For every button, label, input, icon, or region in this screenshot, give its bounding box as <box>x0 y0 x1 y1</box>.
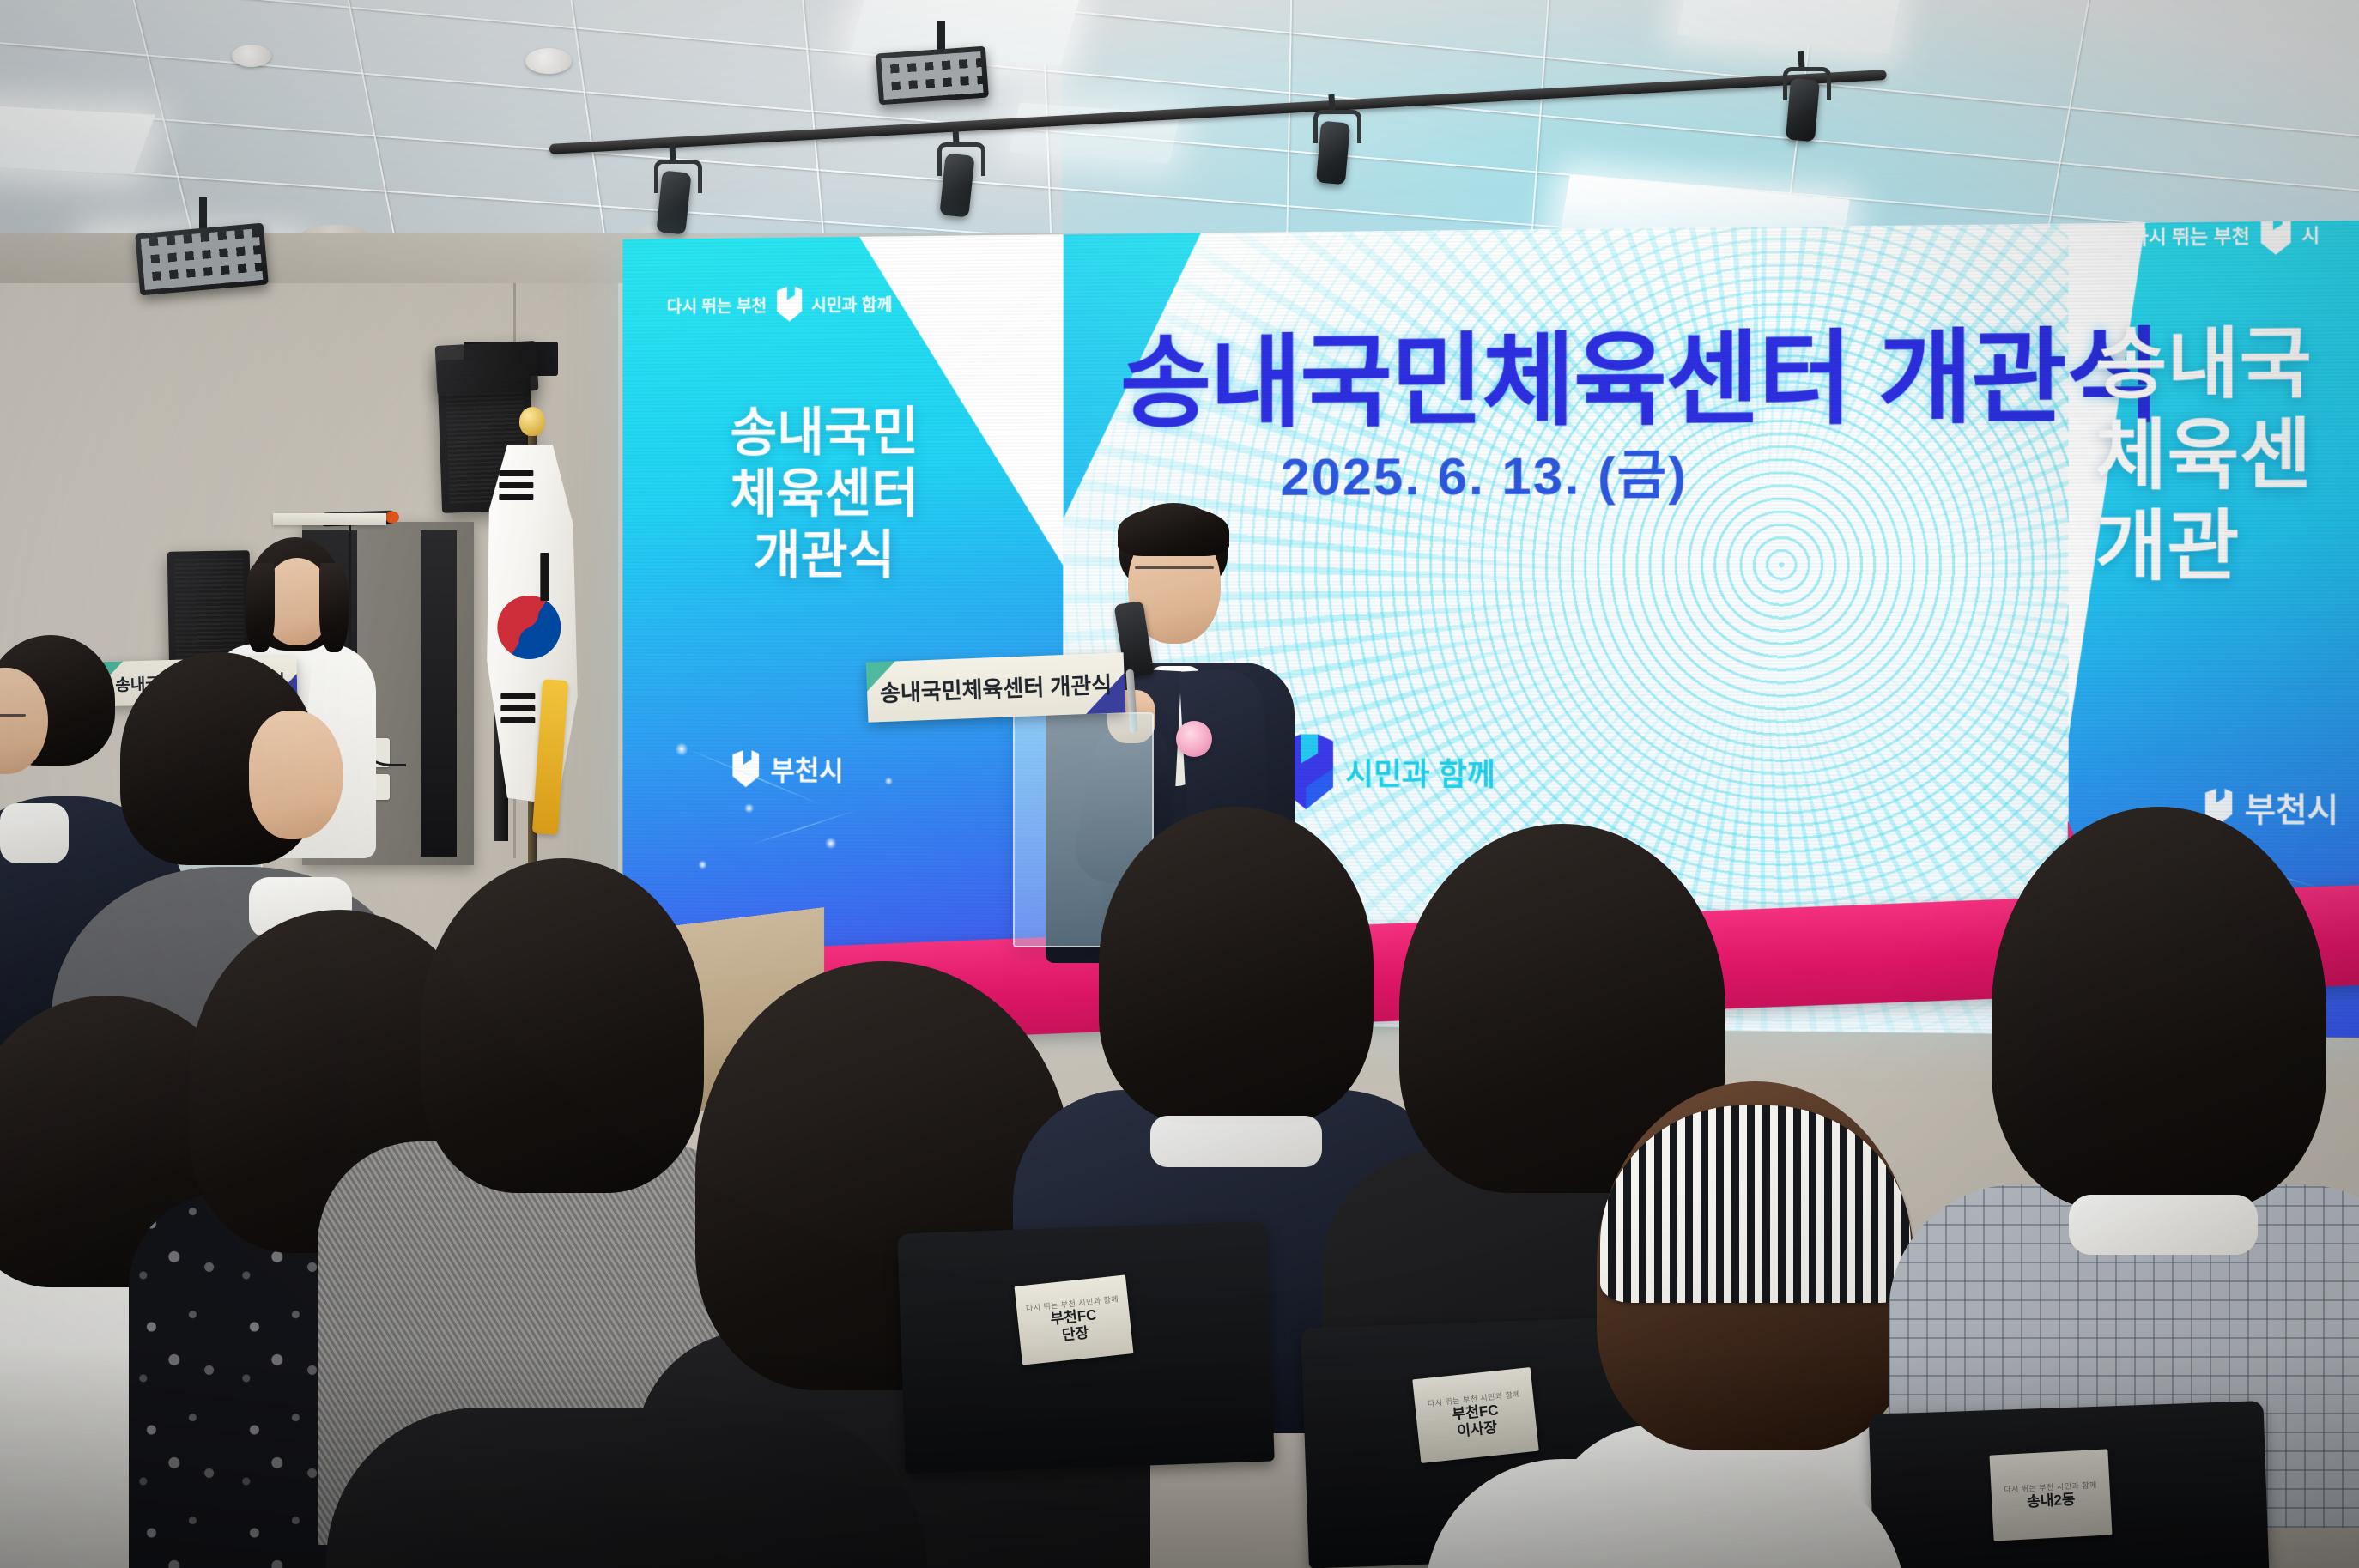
screen-left-brand-lockup: 다시 뛰는 부천 시민과 함께 <box>667 285 892 323</box>
eyeglasses-icon <box>0 714 26 717</box>
audience-hair <box>1992 807 2326 1210</box>
flag-cloth <box>473 445 586 805</box>
audience-top <box>1425 1459 1906 1568</box>
smoke-detector-icon <box>232 45 271 67</box>
screen-right-title: 송내국 체육센 개관 <box>2095 316 2359 591</box>
audience-shirt-collar <box>0 803 69 863</box>
audience-member <box>1957 807 2352 1476</box>
center-podium-sign-text: 송내국민체육센터 개관식 <box>879 667 1113 707</box>
screen-left-title: 송내국민 체육센터 개관식 <box>647 401 1003 587</box>
audience-top <box>326 1408 927 1568</box>
seat-name-tag: 다시 뛰는 부천 시민과 함께 부천FC 단장 <box>1015 1274 1134 1365</box>
ceiling-light-panel <box>0 106 155 175</box>
eyeglasses-icon <box>1135 566 1214 569</box>
left-brand-right-text: 시민과 함께 <box>811 291 892 316</box>
equipment-rack-panel <box>421 530 457 857</box>
audience-shirt-collar <box>1150 1116 1322 1167</box>
flag-finial-icon <box>519 407 545 436</box>
bucheon-b-logo-icon <box>775 286 804 322</box>
mc-hair-side-left <box>246 563 275 652</box>
rack-label-strip <box>273 513 386 525</box>
screen-main-title: 송내국민체육센터 개관식 <box>1120 293 2160 447</box>
speaker-hair-top <box>1118 506 1229 556</box>
track-spotlight-icon <box>1786 78 1820 142</box>
screen-right-brand-lockup: 다시 뛰는 부천 시 <box>2131 221 2320 257</box>
track-spotlight-icon <box>1316 121 1350 185</box>
center-brand-right-text: 시민과 함께 <box>1345 749 1495 795</box>
bucheon-b-logo-icon <box>731 750 761 787</box>
led-floodlight-icon <box>135 223 269 296</box>
audience-head <box>249 711 343 839</box>
speaker-top-module <box>435 341 539 396</box>
audience-shirt-collar <box>2069 1195 2258 1255</box>
right-brand-right-text: 시 <box>2301 221 2320 249</box>
audience-hair <box>421 858 704 1193</box>
smoke-detector-icon <box>525 48 572 74</box>
audience-hair <box>1099 807 1374 1124</box>
screen-left-city-logo: 부천시 <box>731 749 843 789</box>
center-podium-sign: 송내국민체육센터 개관식 <box>866 652 1125 722</box>
audience-member <box>326 1390 927 1568</box>
corsage-flower-icon <box>1176 721 1212 757</box>
event-photo-scene: 송내국민체육센터 개관식 2025. 6. 13. (금) 는 부천 시민과 함… <box>0 0 2359 1568</box>
left-brand-text: 다시 뛰는 부천 <box>667 292 767 317</box>
name-tag-text: 부천FC 단장 <box>1050 1306 1100 1345</box>
bucheon-b-logo-icon <box>2259 221 2293 255</box>
city-logo-text: 부천시 <box>771 749 844 788</box>
right-brand-text: 다시 뛰는 부천 <box>2131 221 2250 250</box>
led-floodlight-stem <box>199 197 207 232</box>
seat-name-tag: 다시 뛰는 부천 시민과 함께 송내2동 <box>1989 1449 2112 1541</box>
audience-member <box>1425 1425 1906 1568</box>
taeguk-symbol <box>488 586 570 669</box>
led-floodlight-icon <box>876 46 989 106</box>
name-tag-text: 송내2동 <box>2027 1491 2076 1510</box>
screen-date-line: 2025. 6. 13. (금) <box>1281 432 1688 511</box>
mc-hair-side-right <box>319 563 349 652</box>
